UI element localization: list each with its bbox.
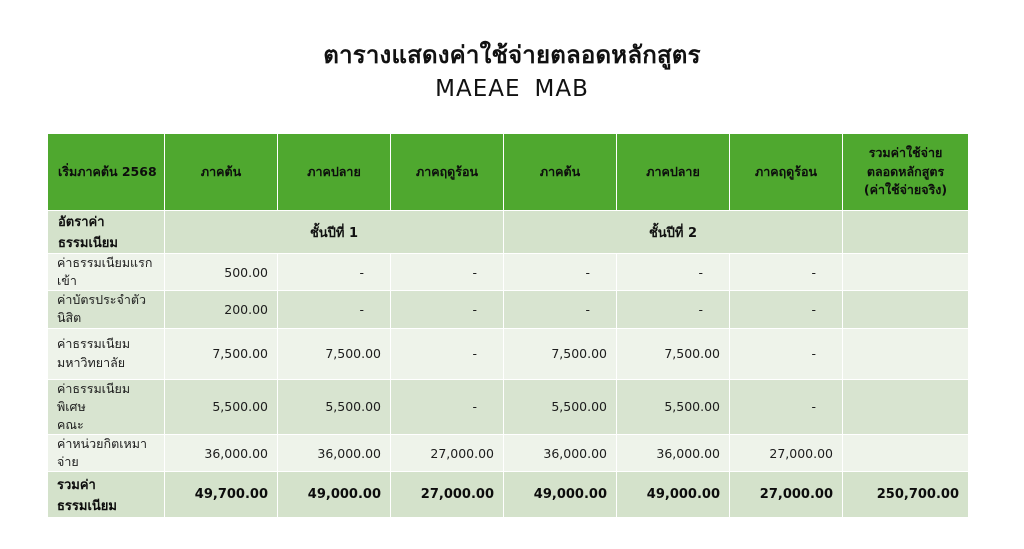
program-code-b: MAB — [535, 76, 589, 102]
stage-year-1: ชั้นปีที่ 1 — [165, 211, 504, 254]
grand-total-line-1: รวมค่าใช้จ่าย — [843, 144, 968, 163]
col-header-grand-total: รวมค่าใช้จ่าย ตลอดหลักสูตร (ค่าใช้จ่ายจร… — [843, 134, 969, 211]
row-label-line-2: มหาวิทยาลัย — [57, 355, 125, 370]
row-value: 5,500.00 — [278, 379, 391, 434]
grand-total-line-3: (ค่าใช้จ่ายจริง) — [843, 181, 968, 200]
row-value: - — [730, 254, 843, 291]
row-total — [843, 434, 969, 471]
title-block: ตารางแสดงค่าใช้จ่ายตลอดหลักสูตร MAEAEMAB — [0, 0, 1024, 105]
col-header-term-start: เริ่มภาคต้น 2568 — [48, 134, 165, 211]
total-row: รวมค่าธรรมเนียม 49,700.00 49,000.00 27,0… — [48, 472, 969, 518]
col-header-y1-second-semester: ภาคปลาย — [278, 134, 391, 211]
row-value: 27,000.00 — [730, 434, 843, 471]
total-value: 49,000.00 — [278, 472, 391, 518]
row-value: - — [504, 291, 617, 328]
row-label-line-2: คณะ — [57, 417, 84, 432]
row-value: 5,500.00 — [504, 379, 617, 434]
total-value: 49,700.00 — [165, 472, 278, 518]
col-header-y2-summer: ภาคฤดูร้อน — [730, 134, 843, 211]
total-value: 27,000.00 — [730, 472, 843, 518]
stage-total-blank — [843, 211, 969, 254]
row-value: 36,000.00 — [278, 434, 391, 471]
row-label: ค่าบัตรประจำตัวนิสิต — [48, 291, 165, 328]
row-value: - — [278, 291, 391, 328]
stage-row-label: อัตราค่าธรรมเนียม — [48, 211, 165, 254]
row-value: - — [730, 291, 843, 328]
stage-year-2: ชั้นปีที่ 2 — [504, 211, 843, 254]
row-value: 200.00 — [165, 291, 278, 328]
row-value: 5,500.00 — [165, 379, 278, 434]
total-row-label: รวมค่าธรรมเนียม — [48, 472, 165, 518]
row-value: 5,500.00 — [617, 379, 730, 434]
row-value: 7,500.00 — [278, 328, 391, 379]
row-value: - — [278, 254, 391, 291]
row-value: 36,000.00 — [617, 434, 730, 471]
row-label: ค่าธรรมเนียม มหาวิทยาลัย — [48, 328, 165, 379]
total-value: 49,000.00 — [504, 472, 617, 518]
row-label: ค่าหน่วยกิตเหมาจ่าย — [48, 434, 165, 471]
col-header-y1-summer: ภาคฤดูร้อน — [391, 134, 504, 211]
table-row: ค่าบัตรประจำตัวนิสิต 200.00 - - - - - — [48, 291, 969, 328]
row-value: 7,500.00 — [504, 328, 617, 379]
total-value: 27,000.00 — [391, 472, 504, 518]
row-value: 7,500.00 — [165, 328, 278, 379]
table-row: ค่าธรรมเนียมพิเศษ คณะ 5,500.00 5,500.00 … — [48, 379, 969, 434]
row-total — [843, 328, 969, 379]
col-header-y1-first-semester: ภาคต้น — [165, 134, 278, 211]
row-value: 27,000.00 — [391, 434, 504, 471]
row-value: 36,000.00 — [504, 434, 617, 471]
table-row: ค่าธรรมเนียมแรกเข้า 500.00 - - - - - — [48, 254, 969, 291]
row-value: - — [730, 379, 843, 434]
page-title: ตารางแสดงค่าใช้จ่ายตลอดหลักสูตร — [0, 40, 1024, 70]
fee-table-wrapper: เริ่มภาคต้น 2568 ภาคต้น ภาคปลาย ภาคฤดูร้… — [47, 133, 968, 518]
row-value: - — [391, 254, 504, 291]
total-value: 49,000.00 — [617, 472, 730, 518]
row-value: 7,500.00 — [617, 328, 730, 379]
row-label-line-1: ค่าธรรมเนียม — [57, 336, 130, 351]
row-label: ค่าธรรมเนียมแรกเข้า — [48, 254, 165, 291]
page-root: ตารางแสดงค่าใช้จ่ายตลอดหลักสูตร MAEAEMAB… — [0, 0, 1024, 549]
table-row: ค่าหน่วยกิตเหมาจ่าย 36,000.00 36,000.00 … — [48, 434, 969, 471]
row-value: 36,000.00 — [165, 434, 278, 471]
table-row: ค่าธรรมเนียม มหาวิทยาลัย 7,500.00 7,500.… — [48, 328, 969, 379]
grand-total-line-2: ตลอดหลักสูตร — [843, 163, 968, 182]
table-header-row: เริ่มภาคต้น 2568 ภาคต้น ภาคปลาย ภาคฤดูร้… — [48, 134, 969, 211]
program-code-a: MAEAE — [435, 76, 520, 102]
row-value: - — [391, 291, 504, 328]
grand-total-value: 250,700.00 — [843, 472, 969, 518]
program-code-subtitle: MAEAEMAB — [0, 75, 1024, 105]
row-value: - — [504, 254, 617, 291]
row-total — [843, 379, 969, 434]
table-header: เริ่มภาคต้น 2568 ภาคต้น ภาคปลาย ภาคฤดูร้… — [48, 134, 969, 211]
table-body: อัตราค่าธรรมเนียม ชั้นปีที่ 1 ชั้นปีที่ … — [48, 211, 969, 518]
col-header-y2-first-semester: ภาคต้น — [504, 134, 617, 211]
row-value: 500.00 — [165, 254, 278, 291]
row-value: - — [391, 379, 504, 434]
stage-row: อัตราค่าธรรมเนียม ชั้นปีที่ 1 ชั้นปีที่ … — [48, 211, 969, 254]
row-value: - — [730, 328, 843, 379]
fee-table: เริ่มภาคต้น 2568 ภาคต้น ภาคปลาย ภาคฤดูร้… — [47, 133, 969, 518]
row-label-line-1: ค่าธรรมเนียมพิเศษ — [57, 381, 130, 414]
row-total — [843, 291, 969, 328]
row-value: - — [617, 254, 730, 291]
row-label: ค่าธรรมเนียมพิเศษ คณะ — [48, 379, 165, 434]
row-value: - — [391, 328, 504, 379]
row-value: - — [617, 291, 730, 328]
col-header-y2-second-semester: ภาคปลาย — [617, 134, 730, 211]
row-total — [843, 254, 969, 291]
